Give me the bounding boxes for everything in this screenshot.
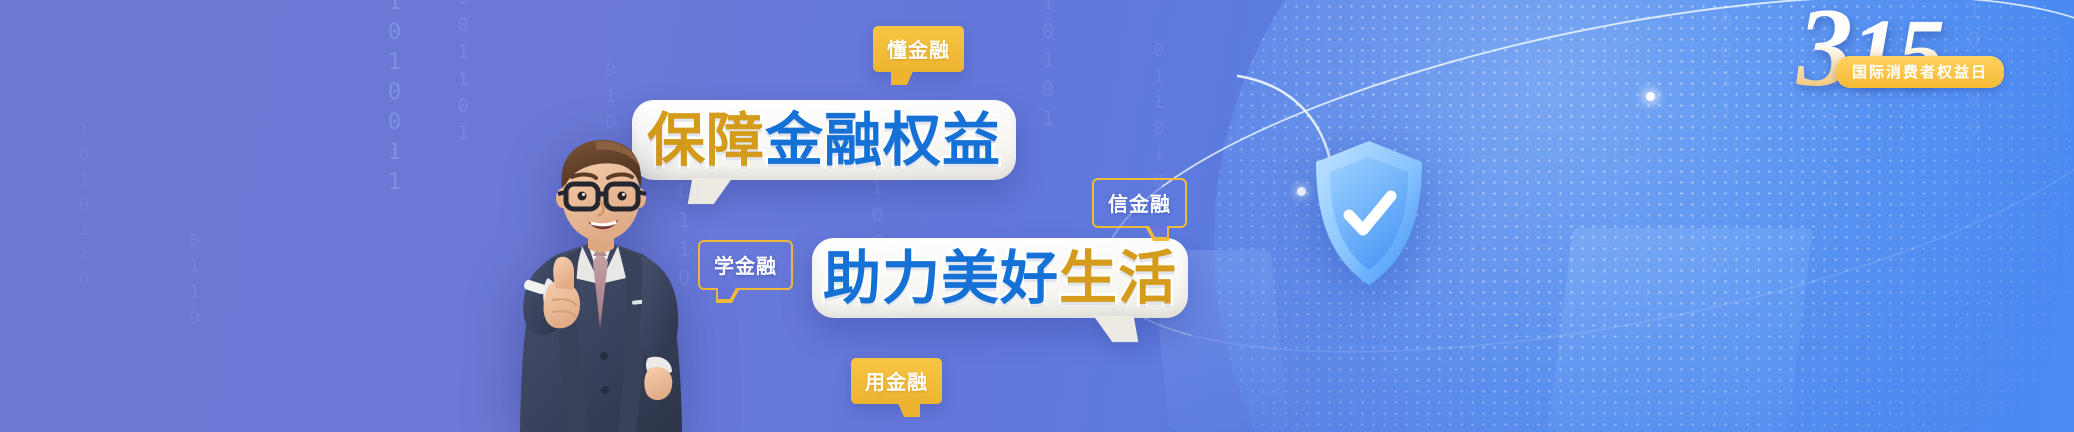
banner-315-finance: 1010011 0101101 01011001 10110 0110 1010… bbox=[0, 0, 2074, 432]
businessman-thumbs-up-icon bbox=[496, 132, 706, 432]
tag-xin-jinrong-label: 信金融 bbox=[1108, 194, 1171, 216]
orbit-node bbox=[1646, 92, 1655, 101]
tag-yong-jinrong[interactable]: 用金融 bbox=[851, 358, 942, 404]
tag-tail-inner bbox=[1149, 226, 1167, 237]
logo-315: 315 国际消费者权益日 bbox=[1730, 0, 2010, 116]
logo-digit-15: 15 bbox=[1851, 0, 1943, 106]
tag-xin-jinrong[interactable]: 信金融 bbox=[1092, 178, 1187, 228]
headline-bubble-secondary: 助力美好生活 bbox=[812, 238, 1188, 318]
binary-column: 011010 bbox=[1148, 40, 1169, 196]
logo-digits: 315 bbox=[1730, 0, 2010, 105]
headline-line-2: 助力美好生活 bbox=[832, 238, 1168, 318]
tag-dong-jinrong[interactable]: 懂金融 bbox=[873, 26, 964, 72]
glass-panel-right bbox=[1547, 228, 1813, 432]
tag-xue-jinrong-label: 学金融 bbox=[714, 256, 777, 278]
headline-2-blue: 助力美好 bbox=[823, 249, 1059, 307]
arc-end-node bbox=[1297, 187, 1306, 196]
logo-digit-3: 3 bbox=[1797, 0, 1851, 110]
binary-column: 1010110 bbox=[74, 120, 94, 295]
tag-xue-jinrong[interactable]: 学金融 bbox=[698, 240, 793, 290]
tag-tail-inner bbox=[718, 288, 736, 299]
binary-column: 1010011 bbox=[382, 0, 407, 200]
headline-2-gold: 生活 bbox=[1059, 249, 1177, 307]
binary-column: 0101101 bbox=[452, 0, 474, 149]
shield-check-icon bbox=[1308, 138, 1430, 288]
binary-column: 0101 bbox=[1820, 110, 1841, 214]
headline-1-blue: 金融权益 bbox=[765, 111, 1001, 169]
binary-column: 0110 bbox=[184, 230, 205, 334]
logo-badge-label: 国际消费者权益日 bbox=[1836, 56, 2004, 88]
binary-column: 10101 bbox=[1036, 0, 1060, 135]
